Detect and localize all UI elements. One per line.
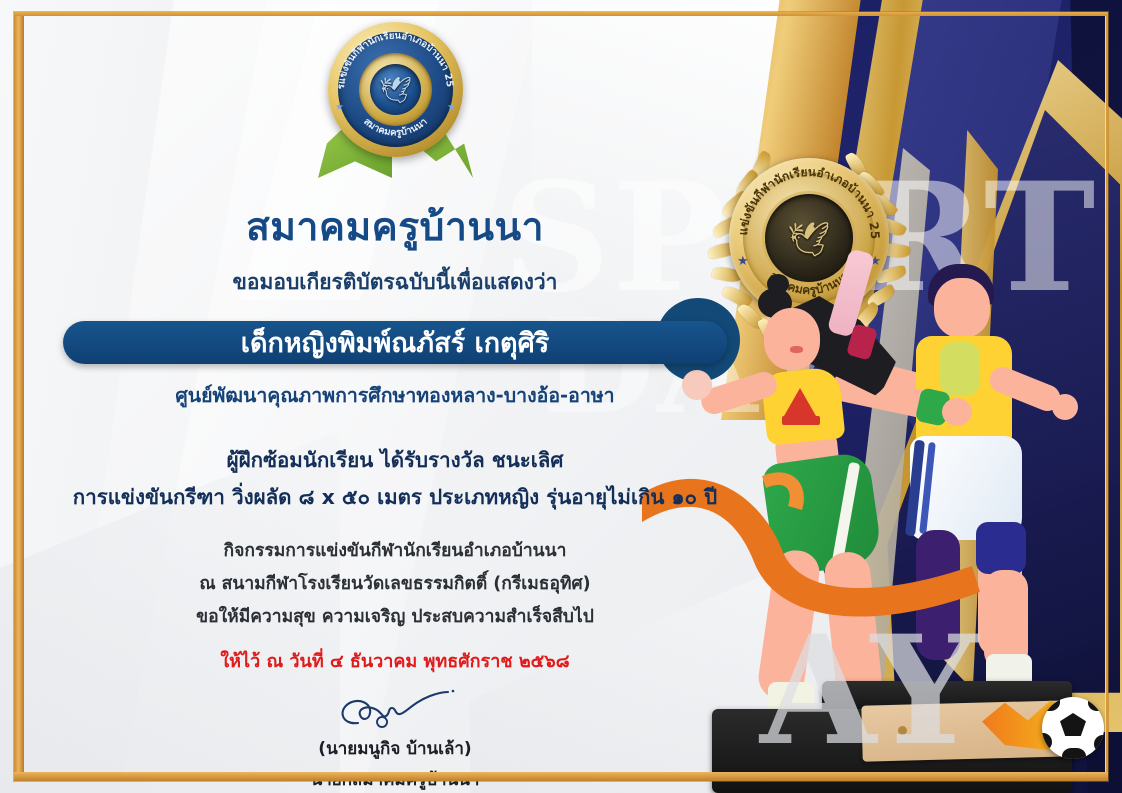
certificate-title: สมาคมครูบ้านนา xyxy=(246,196,544,258)
body-line-3: ขอให้มีความสุข ความเจริญ ประสบความสำเร็จ… xyxy=(196,602,594,630)
certificate-text-block: สมาคมครูบ้านนา ขอมอบเกียรติบัตรฉบับนี้เพ… xyxy=(0,0,790,793)
female-lips xyxy=(790,346,803,353)
award-line-1: ผู้ฝึกซ้อมนักเรียน ได้รับรางวัล ชนะเลิศ xyxy=(227,444,564,477)
certificate-subtitle: ขอมอบเกียรติบัตรฉบับนี้เพื่อแสดงว่า xyxy=(233,266,558,299)
recipient-name: เด็กหญิงพิมพ์ณภัสร์ เกตุศิริ xyxy=(241,321,549,364)
relay-baton xyxy=(827,248,876,338)
signature-image xyxy=(230,687,560,733)
soccer-ball-icon xyxy=(1042,697,1104,759)
signer-name: (นายมนูกิจ บ้านเล้า) xyxy=(318,735,471,762)
organization-line: ศูนย์พัฒนาคุณภาพการศึกษาทองหลาง-บางอ้อ-อ… xyxy=(175,380,614,411)
certificate-page: SPORT DAY xyxy=(0,0,1122,793)
gold-border-left xyxy=(14,12,24,781)
screw-detail xyxy=(898,726,907,735)
body-line-2: ณ สนามกีฬาโรงเรียนวัดเลขธรรมกิตติ์ (กรีเ… xyxy=(199,569,590,597)
award-line-2: การแข่งขันกรีฑา วิ่งผลัด ๘ x ๕๐ เมตร ประ… xyxy=(73,481,717,514)
gold-border-bottom xyxy=(14,772,1108,781)
body-line-1: กิจกรรมการแข่งขันกีฬานักเรียนอำเภอบ้านนา xyxy=(224,536,567,564)
male-hand-right xyxy=(1052,394,1078,420)
male-head xyxy=(934,278,990,338)
date-line: ให้ไว้ ณ วันที่ ๔ ธันวาคม พุทธศักราช ๒๕๖… xyxy=(220,646,569,675)
gold-border-top xyxy=(14,12,1108,16)
recipient-name-banner: เด็กหญิงพิมพ์ณภัสร์ เกตุศิริ xyxy=(63,321,727,364)
